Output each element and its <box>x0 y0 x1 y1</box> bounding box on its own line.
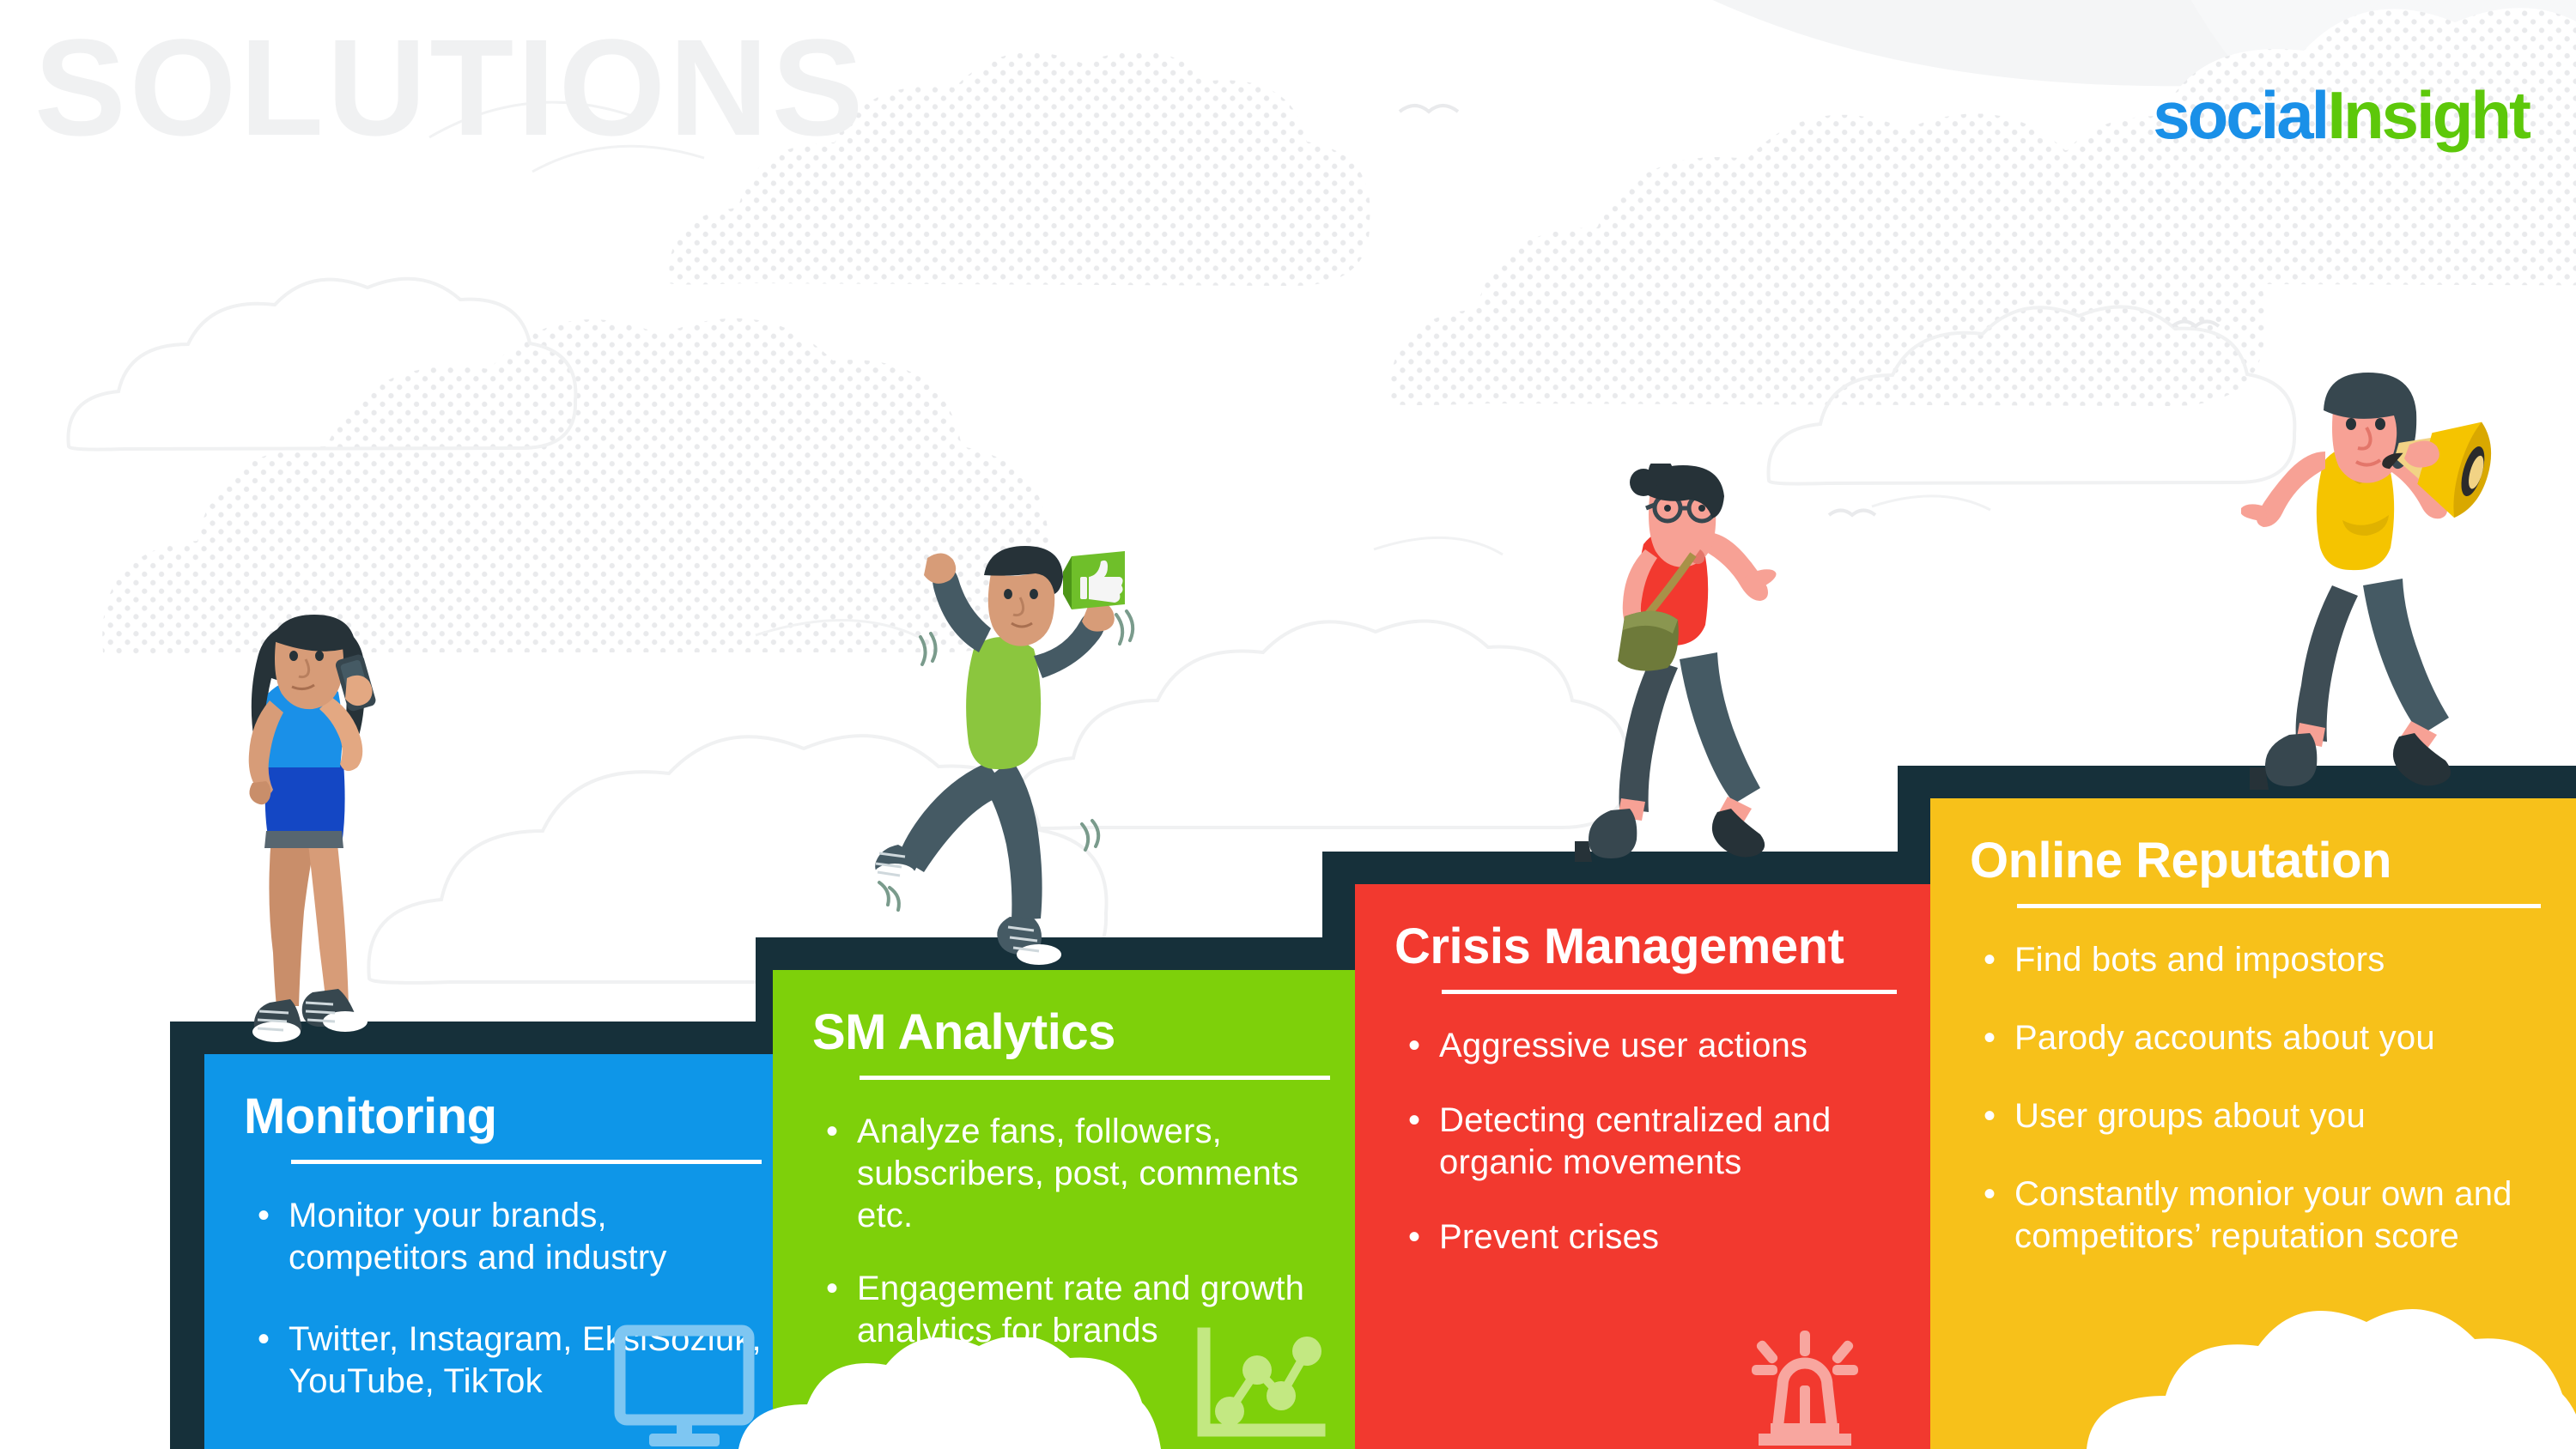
bullet-text: Aggressive user actions <box>1439 1025 1901 1067</box>
foreground-cloud-left <box>738 1337 1185 1449</box>
bullet-text: Parody accounts about you <box>2014 1017 2545 1059</box>
bullet-dot: • <box>1394 1100 1439 1184</box>
list-item: • Constantly monior your own and competi… <box>1970 1173 2545 1258</box>
bullet-dot: • <box>1970 1173 2014 1258</box>
card-crisis-management[interactable]: Crisis Management • Aggressive user acti… <box>1355 884 1941 1449</box>
card-online-reputation-title: Online Reputation <box>1970 834 2545 887</box>
bullet-text: Find bots and impostors <box>2014 939 2545 981</box>
woman-with-bag-illustration <box>1571 464 1820 867</box>
card-online-reputation-bullets: • Find bots and impostors • Parody accou… <box>1970 939 2545 1257</box>
card-sm-analytics-rule <box>860 1076 1330 1080</box>
card-monitoring-bullets: • Monitor your brands, competitors and i… <box>244 1195 766 1402</box>
bullet-dot: • <box>1970 939 2014 981</box>
list-item: • User groups about you <box>1970 1095 2545 1137</box>
bullet-text: Constantly monior your own and competito… <box>2014 1173 2545 1258</box>
bullet-dot: • <box>1394 1216 1439 1258</box>
card-monitoring[interactable]: Monitoring • Monitor your brands, compet… <box>204 1054 805 1449</box>
card-sm-analytics-bullets: • Analyze fans, followers, subscribers, … <box>812 1111 1334 1351</box>
list-item: • Prevent crises <box>1394 1216 1901 1258</box>
card-sm-analytics-title: SM Analytics <box>812 1006 1334 1058</box>
jumping-person-illustration <box>867 541 1142 970</box>
bullet-text: Detecting centralized and organic moveme… <box>1439 1100 1901 1184</box>
card-crisis-management-rule <box>1442 990 1897 994</box>
bullet-dot: • <box>1394 1025 1439 1067</box>
list-item: • Monitor your brands, competitors and i… <box>244 1195 766 1279</box>
card-monitoring-title: Monitoring <box>244 1090 766 1143</box>
list-item: • Twitter, Instagram, EksiSozluk, YouTub… <box>244 1319 766 1403</box>
bullet-text: User groups about you <box>2014 1095 2545 1137</box>
card-monitoring-rule <box>291 1160 762 1164</box>
card-monitoring-content: Monitoring • Monitor your brands, compet… <box>204 1054 805 1449</box>
list-item: • Analyze fans, followers, subscribers, … <box>812 1111 1334 1236</box>
bullet-dot: • <box>812 1111 857 1236</box>
bullet-text: Prevent crises <box>1439 1216 1901 1258</box>
bullet-dot: • <box>1970 1095 2014 1137</box>
bullet-dot: • <box>244 1319 289 1403</box>
list-item: • Parody accounts about you <box>1970 1017 2545 1059</box>
bullet-dot: • <box>244 1195 289 1279</box>
bullet-dot: • <box>1970 1017 2014 1059</box>
list-item: • Detecting centralized and organic move… <box>1394 1100 1901 1184</box>
bullet-text: Monitor your brands, competitors and ind… <box>289 1195 766 1279</box>
woman-with-phone-illustration <box>204 615 419 1044</box>
card-crisis-management-bullets: • Aggressive user actions • Detecting ce… <box>1394 1025 1901 1258</box>
bullet-text: Twitter, Instagram, EksiSozluk, YouTube,… <box>289 1319 766 1403</box>
card-online-reputation-rule <box>2017 904 2541 908</box>
bullet-text: Analyze fans, followers, subscribers, po… <box>857 1111 1334 1236</box>
list-item: • Aggressive user actions <box>1394 1025 1901 1067</box>
card-crisis-management-content: Crisis Management • Aggressive user acti… <box>1355 884 1941 1449</box>
solutions-slide: SOLUTIONS socialInsight Monitoring • Mon… <box>0 0 2576 1449</box>
card-crisis-management-title: Crisis Management <box>1394 920 1901 973</box>
foreground-cloud-right <box>2087 1303 2576 1449</box>
woman-with-megaphone-illustration <box>2241 369 2507 790</box>
list-item: • Find bots and impostors <box>1970 939 2545 981</box>
